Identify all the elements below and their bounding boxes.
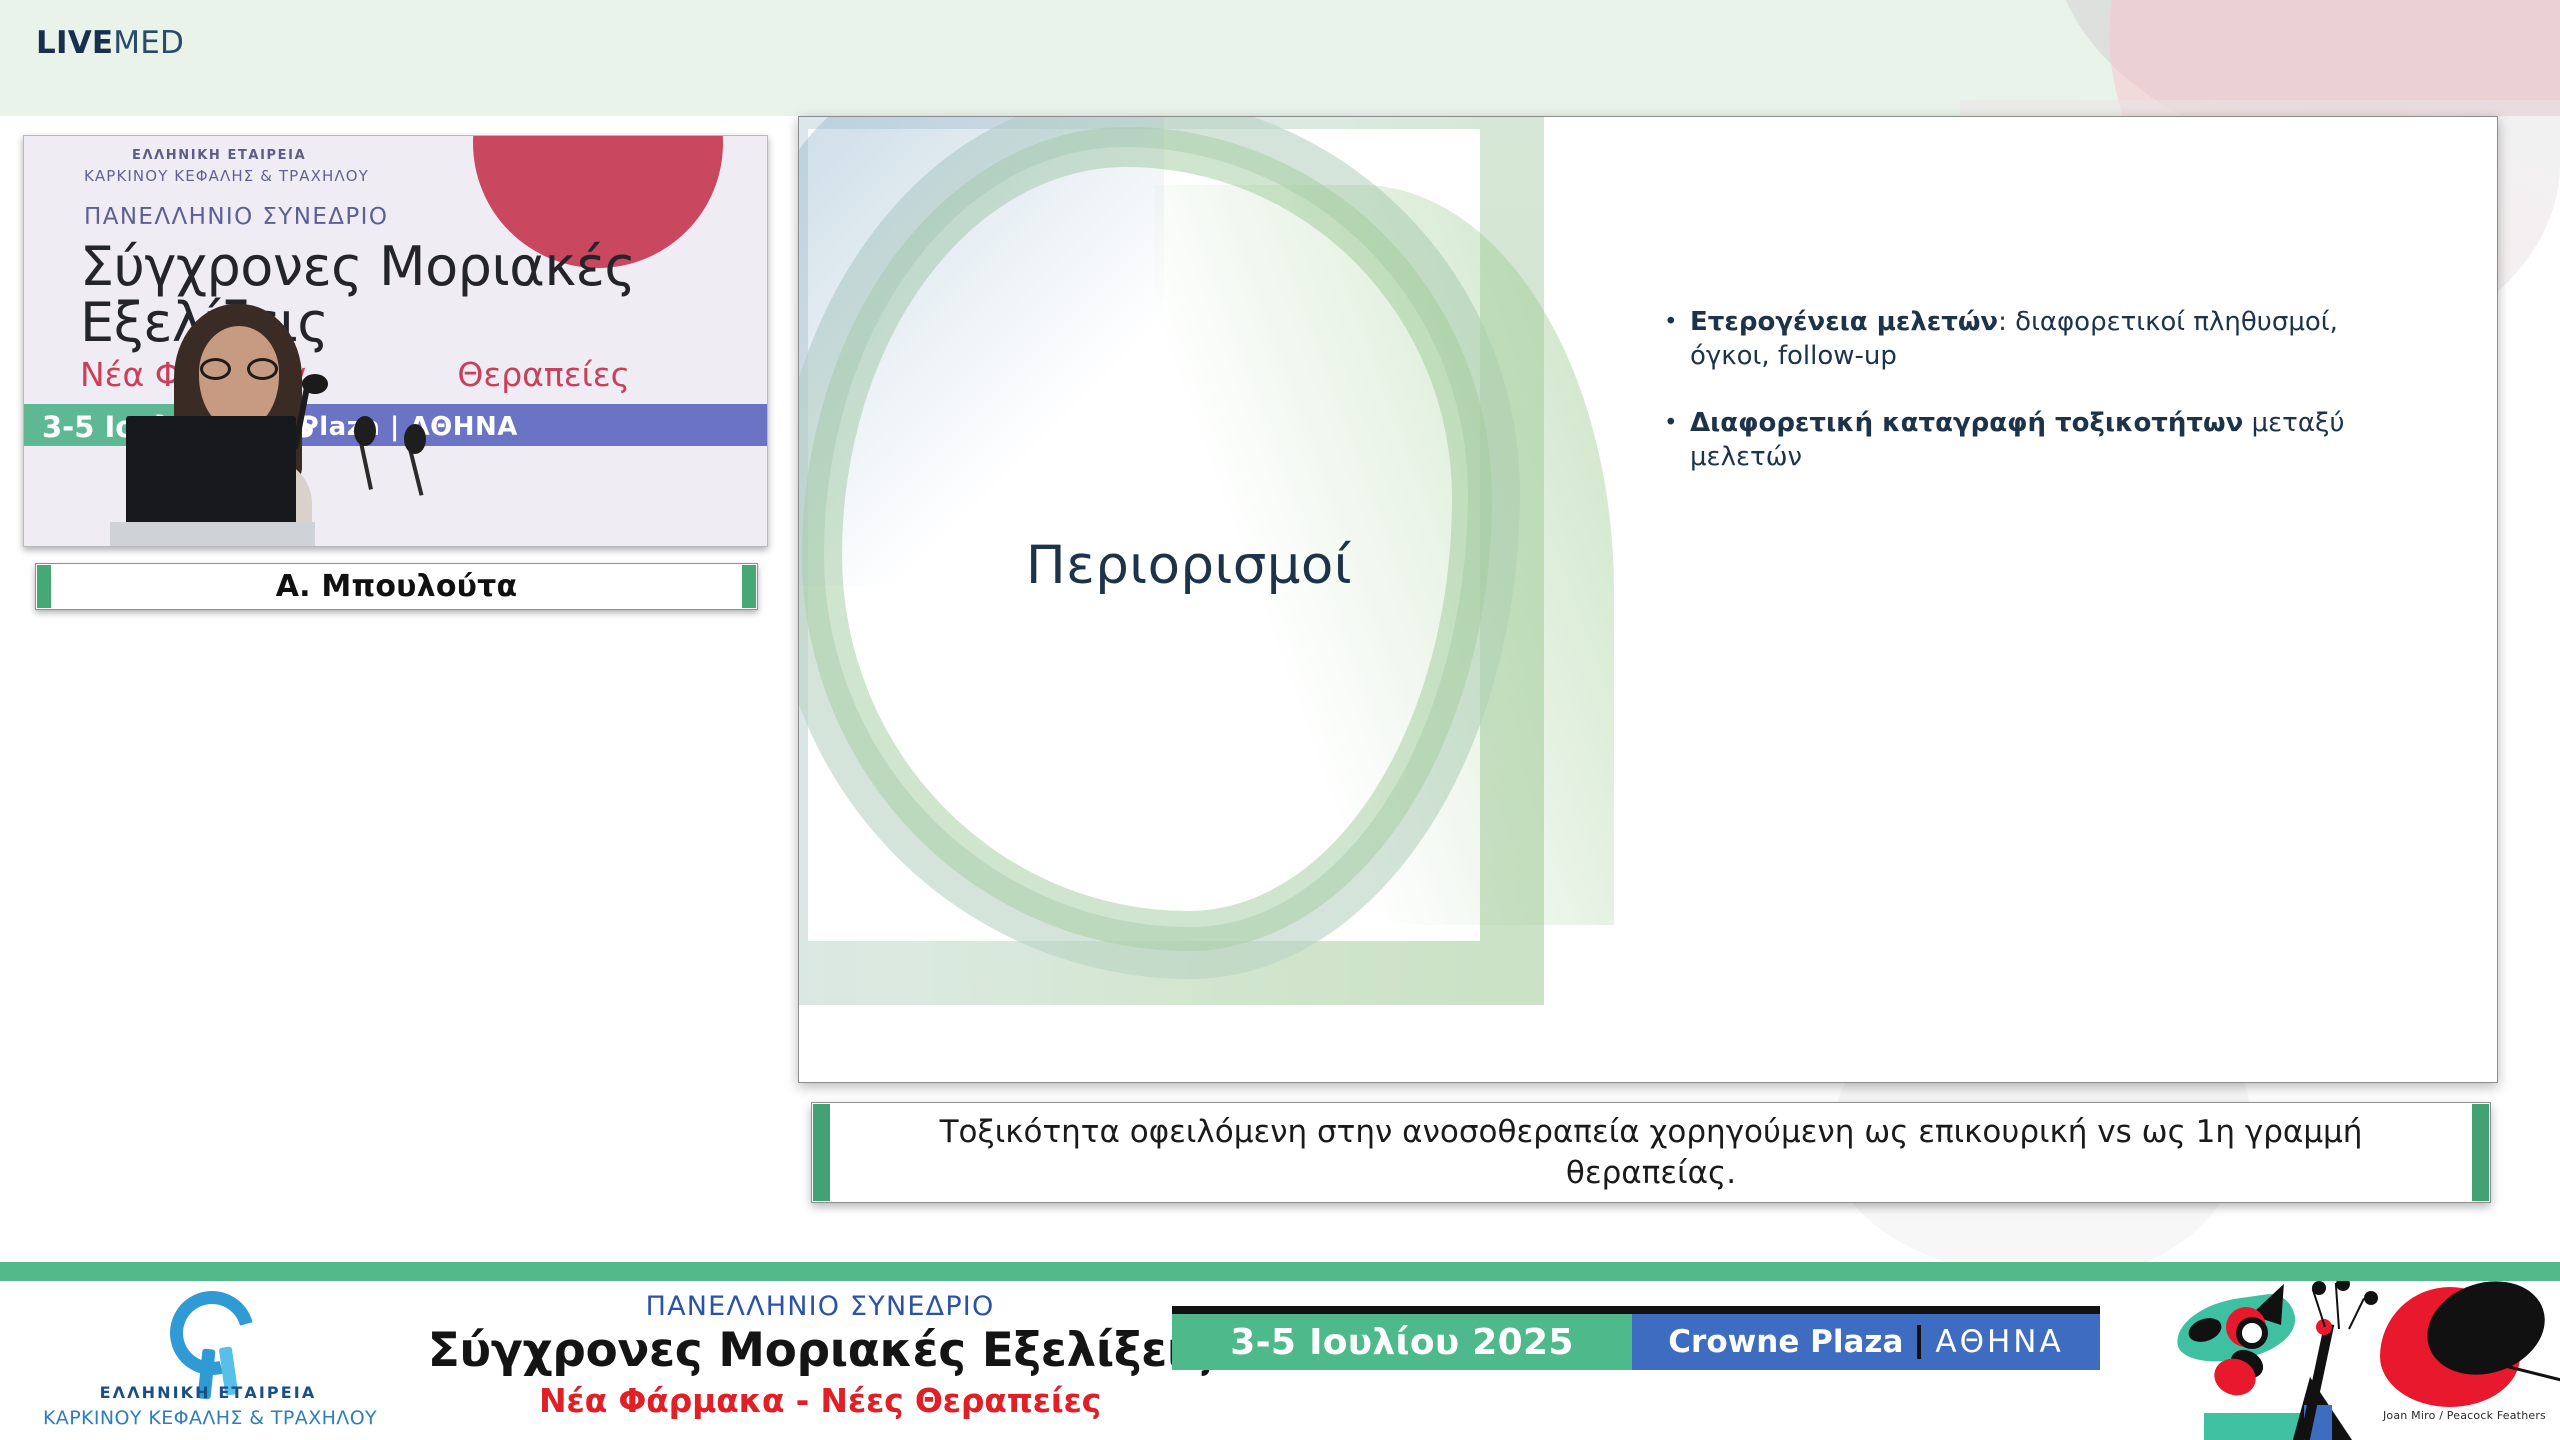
bullet-bold-lead: Διαφορετική καταγραφή τοξικοτήτων [1690, 408, 2243, 438]
miro-artwork: Joan Miro / Peacock Feathers [2152, 1281, 2560, 1440]
footer-bar-top-rule [1172, 1306, 2100, 1314]
poster-venue: e Plaza | ΑΘΗΝΑ [272, 412, 518, 442]
art-antenna-dot-1 [2312, 1281, 2326, 1295]
microphone-2-head [354, 416, 376, 446]
art-bird-eye-inner [2236, 1317, 2268, 1349]
slide-title: Περιορισμοί [869, 535, 1509, 596]
speaker-video-player[interactable]: ΕΛΛΗΝΙΚΗ ΕΤΑΙΡΕΙΑ ΚΑΡΚΙΝΟΥ ΚΕΦΑΛΗΣ & ΤΡΑ… [23, 135, 768, 547]
footer-venue-block: Crowne Plaza ΑΘΗΝΑ [1632, 1314, 2100, 1370]
poster-kicker: ΠΑΝΕΛΛΗΝΙΟ ΣΥΝΕΔΡΙΟ [84, 204, 388, 230]
footer-green-strip [0, 1262, 2560, 1281]
caption-text: Τοξικότητα οφειλόμενη στην ανοσοθεραπεία… [852, 1103, 2450, 1202]
footer-venue-divider [1917, 1325, 1921, 1359]
art-antenna-3 [2348, 1298, 2365, 1329]
microphone-2-stick [359, 442, 373, 490]
bullet-item: • Διαφορετική καταγραφή τοξικοτήτων μετα… [1664, 406, 2424, 474]
ribbon-head-icon [170, 1291, 256, 1395]
video-poster-frame: ΕΛΛΗΝΙΚΗ ΕΤΑΙΡΕΙΑ ΚΑΡΚΙΝΟΥ ΚΕΦΑΛΗΣ & ΤΡΑ… [24, 136, 767, 546]
microphone-3-head [404, 424, 426, 454]
presentation-slide[interactable]: Περιορισμοί • Ετερογένεια μελετών: διαφο… [798, 116, 2498, 1083]
microphone-head [302, 374, 328, 394]
footer-city: ΑΘΗΝΑ [1935, 1324, 2063, 1360]
footer-banner: ΕΛΛΗΝΙΚΗ ΕΤΑΙΡΕΙΑ ΚΑΡΚΙΝΟΥ ΚΕΦΑΛΗΣ & ΤΡΑ… [0, 1281, 2560, 1440]
poster-society-line2: ΚΑΡΚΙΝΟΥ ΚΕΦΑΛΗΣ & ΤΡΑΧΗΛΟΥ [84, 167, 369, 185]
footer-congress-subtitle: Νέα Φάρμακα - Νέες Θεραπείες [440, 1381, 1200, 1420]
art-credit-text: Joan Miro / Peacock Feathers [2383, 1409, 2546, 1422]
caption-accent-left [813, 1104, 830, 1201]
brand-med-text: MED [113, 25, 184, 61]
footer-venue-name: Crowne Plaza [1668, 1324, 1903, 1360]
art-antenna-dot-3 [2364, 1291, 2378, 1305]
poster-subtitle-right: Θεραπείες [457, 355, 630, 394]
bullet-item: • Ετερογένεια μελετών: διαφορετικοί πληθ… [1664, 305, 2424, 373]
top-header-bar: LIVEMED [0, 0, 2560, 116]
microphone-3-stick [408, 450, 423, 496]
footer-society-line2: ΚΑΡΚΙΝΟΥ ΚΕΦΑΛΗΣ & ΤΡΑΧΗΛΟΥ [40, 1407, 380, 1429]
footer-society-line1: ΕΛΛΗΝΙΚΗ ΕΤΑΙΡΕΙΑ [58, 1383, 358, 1402]
podium-desk [110, 522, 315, 547]
speaker-name: Α. Μπουλούτα [36, 564, 757, 609]
bullet-bold-lead: Ετερογένεια μελετών [1690, 307, 1998, 337]
livemed-logo[interactable]: LIVEMED [36, 28, 184, 59]
society-logo: ΕΛΛΗΝΙΚΗ ΕΤΑΙΡΕΙΑ ΚΑΡΚΙΝΟΥ ΚΕΦΑΛΗΣ & ΤΡΑ… [58, 1287, 358, 1437]
speaker-glasses-icon [200, 358, 278, 380]
footer-kicker: ΠΑΝΕΛΛΗΝΙΟ ΣΥΝΕΔΡΙΟ [470, 1291, 1170, 1322]
poster-subtitle: Νέα ΦάρμακαΘεραπείες [80, 358, 630, 391]
bullet-marker-icon: • [1664, 406, 1690, 474]
poster-society-line1: ΕΛΛΗΝΙΚΗ ΕΤΑΙΡΕΙΑ [132, 148, 306, 163]
footer-congress-title: Σύγχρονες Μοριακές Εξελίξεις [400, 1323, 1240, 1378]
app-root: LIVEMED ΕΛΛΗΝΙΚΗ ΕΤΑΙΡΕΙΑ ΚΑΡΚΙΝΟΥ ΚΕΦΑΛ… [0, 0, 2560, 1440]
footer-date: 3-5 Ιουλίου 2025 [1172, 1314, 1632, 1370]
art-antenna-dot-2 [2336, 1281, 2350, 1291]
poster-title-line1: Σύγχρονες Μοριακές [80, 240, 636, 294]
caption-accent-right [2472, 1104, 2489, 1201]
bullet-text: Ετερογένεια μελετών: διαφορετικοί πληθυσ… [1690, 305, 2424, 373]
bullet-marker-icon: • [1664, 305, 1690, 373]
slide-caption-bar: Τοξικότητα οφειλόμενη στην ανοσοθεραπεία… [811, 1102, 2491, 1203]
footer-date-venue-bar: 3-5 Ιουλίου 2025 Crowne Plaza ΑΘΗΝΑ [1172, 1314, 2100, 1370]
header-decorative-pink-shape [2056, 0, 2560, 116]
slide-bullet-list: • Ετερογένεια μελετών: διαφορετικοί πληθ… [1664, 305, 2424, 507]
speaker-nameplate: Α. Μπουλούτα [35, 563, 758, 610]
brand-live-text: LIVE [36, 25, 113, 61]
bullet-text: Διαφορετική καταγραφή τοξικοτήτων μεταξύ… [1690, 406, 2424, 474]
